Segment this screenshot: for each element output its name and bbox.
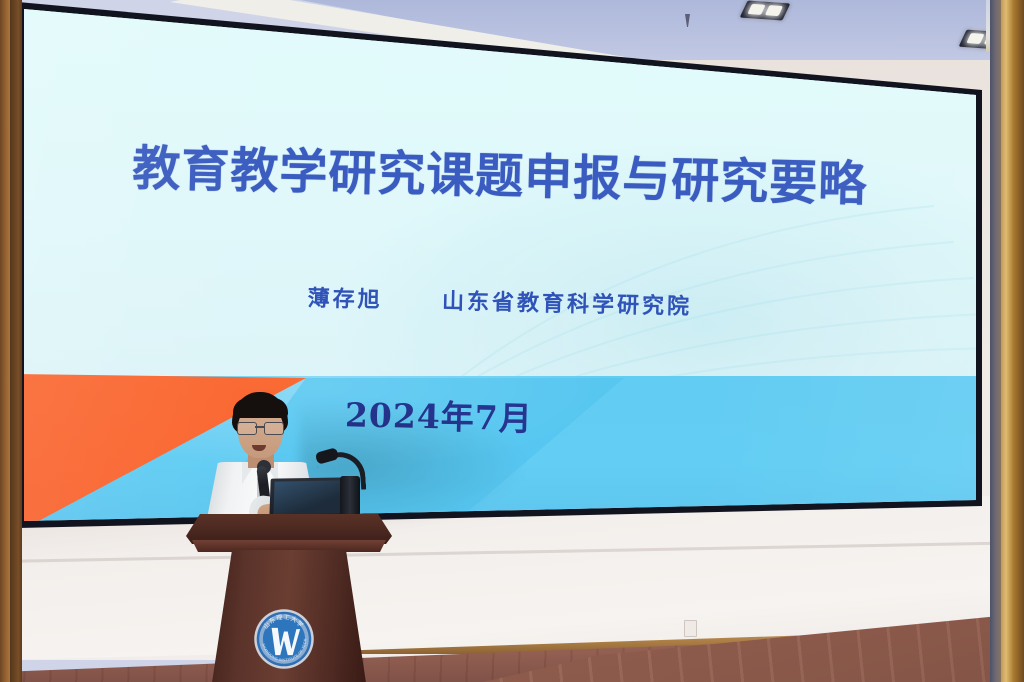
wall-outlet-icon: [684, 620, 697, 637]
eyeglasses-icon: [237, 422, 285, 433]
podium-desktop: [186, 514, 392, 544]
lecture-hall-scene: 教育教学研究课题申报与研究要略 薄存旭 山东省教育科学研究院 2024年7月: [0, 0, 1024, 682]
ceiling-spotlight-icon: [740, 0, 791, 20]
eyeglass-lens-left: [237, 422, 257, 435]
slide-presenter-name: 薄存旭: [307, 285, 383, 313]
eyeglass-bridge: [255, 426, 264, 428]
wood-column-right: [1001, 0, 1024, 682]
podium: 山东理工大学 SHANDONG INSTITUTE OF TECHNOLOGY: [186, 514, 392, 682]
wood-column-left-inner: [10, 0, 19, 682]
university-emblem-icon: 山东理工大学 SHANDONG INSTITUTE OF TECHNOLOGY: [253, 608, 315, 670]
speaker-hair-fringe: [233, 398, 288, 418]
slide-presenter-affiliation: 山东省教育科学研究院: [442, 288, 693, 319]
eyeglass-lens-right: [264, 422, 284, 435]
subtitle-spacer: [393, 307, 431, 308]
gooseneck-microphone-base: [340, 476, 360, 516]
